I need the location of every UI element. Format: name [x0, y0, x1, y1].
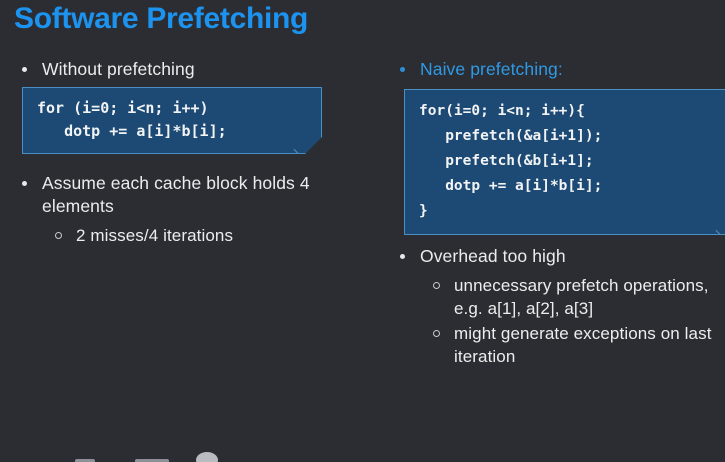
bullet-circle-icon	[55, 232, 62, 239]
bullet-circle-icon	[433, 330, 440, 337]
subbullet-unnecessary-prefetch: unnecessary prefetch operations, e.g. a[…	[386, 274, 725, 320]
page-title: Software Prefetching	[14, 2, 308, 36]
code-block-naive-prefetching: for(i=0; i<n; i++){ prefetch(&a[i+1]); p…	[404, 89, 725, 235]
code-line: }	[419, 199, 725, 224]
bullet-dot-icon	[400, 254, 405, 259]
bullet-assume-cache-block: Assume each cache block holds 4 elements	[8, 172, 376, 218]
bullet-label: Overhead too high	[420, 245, 725, 268]
bullet-label: Assume each cache block holds 4 elements	[42, 172, 376, 218]
subbullet-might-generate-exceptions: might generate exceptions on last iterat…	[386, 322, 725, 368]
taskbar	[0, 454, 725, 462]
bullet-dot-icon	[22, 67, 27, 72]
subbullet-label: might generate exceptions on last iterat…	[454, 322, 725, 368]
code-line: prefetch(&a[i+1]);	[419, 124, 725, 149]
slide-canvas: Software Prefetching Without prefetching…	[0, 0, 725, 462]
right-column: Naive prefetching: for(i=0; i<n; i++){ p…	[386, 58, 725, 370]
subbullet-label: unnecessary prefetch operations, e.g. a[…	[454, 274, 725, 320]
code-line: for(i=0; i<n; i++){	[419, 99, 725, 124]
code-line: prefetch(&b[i+1];	[419, 149, 725, 174]
left-column: Without prefetching for (i=0; i<n; i++) …	[8, 58, 376, 249]
taskbar-app-icon[interactable]	[196, 452, 218, 462]
bullet-dot-icon	[22, 181, 27, 186]
bullet-circle-icon	[433, 282, 440, 289]
bullet-label: Without prefetching	[42, 58, 376, 81]
bullet-naive-prefetching: Naive prefetching:	[386, 58, 725, 81]
bullet-label: Naive prefetching:	[420, 58, 725, 81]
code-line: for (i=0; i<n; i++)	[37, 97, 309, 120]
code-line: dotp += a[i]*b[i];	[37, 120, 309, 143]
bullet-overhead-too-high: Overhead too high	[386, 245, 725, 268]
code-block-without-prefetching: for (i=0; i<n; i++) dotp += a[i]*b[i];	[22, 87, 322, 154]
bullet-dot-icon	[400, 67, 405, 72]
subbullet-misses-per-iterations: 2 misses/4 iterations	[8, 224, 376, 247]
code-line: dotp += a[i]*b[i];	[419, 174, 725, 199]
bullet-without-prefetching: Without prefetching	[8, 58, 376, 81]
subbullet-label: 2 misses/4 iterations	[76, 224, 376, 247]
